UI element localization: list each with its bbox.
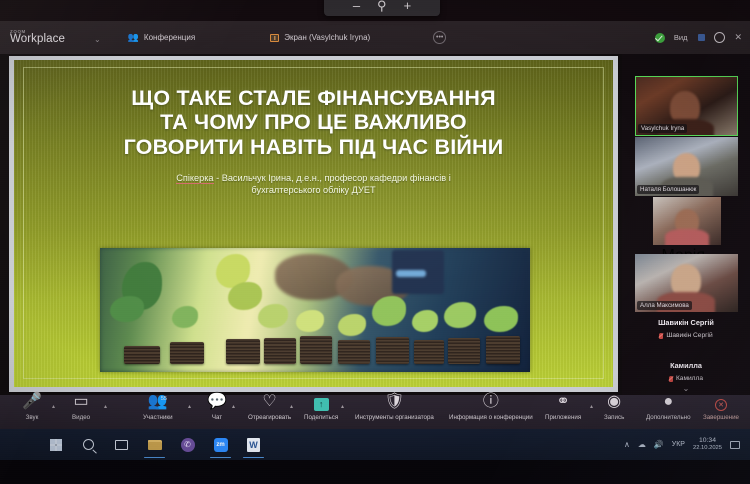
slide-title-line-2: ТА ЧОМУ ПРО ЦЕ ВАЖЛИВО (32, 110, 595, 134)
participants-options-caret-icon[interactable]: ▴ (188, 403, 191, 410)
info-icon: ⓘ (483, 397, 499, 411)
camera-icon: ▭ (73, 397, 88, 411)
slide-image-plants-on-coins (100, 248, 530, 372)
network-icon[interactable]: ☁ (638, 440, 646, 449)
share-options-caret-icon[interactable]: ▴ (341, 403, 344, 410)
floating-zoom-controls[interactable]: – ⚲ + (324, 0, 440, 16)
people-icon: 👥 (128, 32, 139, 43)
video-button[interactable]: ▭ Видео (72, 397, 90, 421)
file-explorer-icon[interactable] (147, 437, 162, 452)
participant-list-sub: Камилла (622, 375, 750, 382)
sleeve-cuff (396, 270, 426, 277)
audio-button[interactable]: 🎤 Звук (22, 397, 42, 421)
participant-name-label: Наталя Болошанюк (637, 185, 699, 194)
video-tile[interactable]: Наталя Болошанюк (635, 137, 738, 196)
video-tile[interactable]: Алла Максимова (635, 254, 738, 312)
windows-taskbar: ✆ zm W ∧ ☁ 🔊 УКР 10:34 22.10.2025 (0, 429, 750, 460)
tray-chevron-icon[interactable]: ∧ (624, 440, 630, 449)
fullscreen-icon[interactable] (714, 32, 725, 43)
scroll-down-chevron-icon[interactable]: ⌄ (622, 384, 750, 393)
view-layout-icon[interactable] (698, 34, 705, 41)
audio-options-caret-icon[interactable]: ▴ (52, 403, 55, 410)
slide-title-line-1: ЩО ТАКЕ СТАЛЕ ФІНАНСУВАННЯ (32, 86, 595, 110)
participants-count-badge: 55 (161, 396, 167, 402)
mic-muted-icon (659, 333, 663, 339)
participants-panel[interactable]: Vasylchuk Iryna Наталя Болошанюк Марія П… (622, 54, 750, 395)
participant-name-label: Алла Максимова (637, 301, 692, 310)
participant-name-label: Vasylchuk Iryna (638, 124, 687, 133)
zoom-out-icon[interactable]: – (353, 0, 360, 12)
record-button[interactable]: ◉ Запись (604, 397, 624, 421)
clock-time: 10:34 (693, 437, 722, 445)
zoom-in-icon[interactable]: + (404, 0, 412, 12)
host-tools-icon: 🛡 (384, 397, 404, 411)
reactions-icon: ♡ (262, 397, 276, 411)
more-icon: ● (663, 397, 673, 411)
taskbar-icon-group: ✆ zm W (48, 429, 261, 460)
slide-title: ЩО ТАКЕ СТАЛЕ ФІНАНСУВАННЯ ТА ЧОМУ ПРО Ц… (32, 86, 595, 159)
meeting-stage: ЩО ТАКЕ СТАЛЕ ФІНАНСУВАННЯ ТА ЧОМУ ПРО Ц… (0, 54, 750, 395)
participant-list-title: Камилла (622, 361, 750, 370)
chat-options-caret-icon[interactable]: ▴ (232, 403, 235, 410)
share-screen-icon: ↑ (314, 397, 329, 411)
host-tools-button[interactable]: 🛡 Инструменты организатора (355, 397, 434, 421)
reactions-options-caret-icon[interactable]: ▴ (290, 403, 293, 410)
participant-list-item[interactable]: Шавикін Сергій Шавикін Сергій (622, 318, 750, 339)
taskbar-clock[interactable]: 10:34 22.10.2025 (693, 437, 722, 451)
microphone-icon: 🎤 (22, 397, 42, 411)
shared-screen-area[interactable]: ЩО ТАКЕ СТАЛЕ ФІНАНСУВАННЯ ТА ЧОМУ ПРО Ц… (9, 56, 618, 392)
connection-ok-icon (655, 33, 665, 43)
speaker-details: - Васильчук Ірина, д.е.н., професор кафе… (214, 173, 451, 183)
participant-torso (665, 229, 709, 245)
participant-list-item[interactable]: Камилла Камилла (622, 361, 750, 382)
coin-stack (448, 338, 480, 364)
apps-icon: ⚭ (556, 397, 569, 411)
word-icon[interactable]: W (246, 437, 261, 452)
slide-title-line-3: ГОВОРИТИ НАВІТЬ ПІД ЧАС ВІЙНИ (32, 135, 595, 159)
participant-list-title: Шавикін Сергій (622, 318, 750, 327)
chat-icon: 💬 (207, 397, 227, 411)
video-tile-active-speaker[interactable]: Vasylchuk Iryna (635, 76, 738, 136)
speaker-affiliation: бухгалтерського обліку ДУЕТ (62, 184, 565, 196)
apps-options-caret-icon[interactable]: ▴ (590, 403, 593, 410)
more-button[interactable]: ● Дополнительно (646, 397, 691, 421)
close-icon[interactable]: ✕ (734, 32, 742, 43)
participant-list-sub: Шавикін Сергій (622, 332, 750, 339)
search-icon[interactable] (81, 437, 96, 452)
speaker-word: Спікерка (176, 173, 213, 184)
chat-button[interactable]: 💬 Чат (207, 397, 227, 421)
coin-stack (338, 340, 370, 364)
clock-date: 22.10.2025 (693, 445, 722, 452)
slide-subtitle: Спікерка - Васильчук Ірина, д.е.н., проф… (62, 172, 565, 197)
conference-label: Конференция (144, 33, 195, 42)
coin-stack (124, 346, 160, 364)
participants-button[interactable]: 👥 55 Участники (143, 397, 173, 421)
coin-stack (226, 339, 260, 364)
more-tabs-button[interactable]: ••• (433, 31, 446, 44)
task-view-icon[interactable] (114, 437, 129, 452)
monitor-photo: – ⚲ + ZOOM Workplace ⌄ 👥 Конференция Экр… (0, 0, 750, 484)
share-screen-button[interactable]: ↑ Поделиться (304, 397, 338, 421)
coin-stack (264, 338, 296, 364)
system-tray: ∧ ☁ 🔊 УКР 10:34 22.10.2025 (624, 429, 740, 460)
reactions-button[interactable]: ♡ Отреагировать (248, 397, 291, 421)
viber-icon[interactable]: ✆ (180, 437, 195, 452)
header-dropdown-chevron-icon[interactable]: ⌄ (94, 35, 101, 44)
brand-name-label: Workplace (10, 34, 84, 46)
apps-button[interactable]: ⚭ Приложения (545, 397, 581, 421)
record-icon: ◉ (607, 397, 621, 411)
video-tile[interactable] (653, 197, 721, 245)
conference-tab[interactable]: 👥 Конференция (128, 32, 195, 43)
coin-stack (376, 337, 409, 364)
coin-stack (486, 336, 520, 364)
language-indicator[interactable]: УКР (672, 441, 685, 448)
presentation-slide: ЩО ТАКЕ СТАЛЕ ФІНАНСУВАННЯ ТА ЧОМУ ПРО Ц… (14, 60, 613, 387)
coin-stack (170, 342, 204, 364)
search-icon[interactable]: ⚲ (377, 0, 387, 12)
volume-icon[interactable]: 🔊 (654, 440, 664, 449)
coin-stack (300, 336, 332, 364)
view-label[interactable]: Вид (674, 33, 688, 42)
notification-icon[interactable] (730, 441, 740, 449)
coin-stack (414, 340, 444, 364)
monitor-bezel (0, 460, 750, 484)
participants-icon: 👥 55 (148, 397, 168, 411)
screen-share-label: Экран (Vasylchuk Iryna) (284, 33, 370, 42)
end-meeting-button[interactable]: ✕ Завершение (703, 397, 739, 421)
screen-share-icon (270, 34, 279, 42)
end-call-icon: ✕ (715, 397, 727, 411)
video-options-caret-icon[interactable]: ▴ (104, 403, 107, 410)
screen-share-tab[interactable]: Экран (Vasylchuk Iryna) (270, 33, 370, 42)
zoom-workplace-logo: ZOOM Workplace (10, 30, 84, 46)
zoom-app-header: ZOOM Workplace ⌄ 👥 Конференция Экран (Va… (0, 21, 750, 54)
header-right-controls: Вид ✕ (655, 21, 742, 54)
meeting-info-button[interactable]: ⓘ Информация о конференции (449, 397, 533, 421)
zoom-icon[interactable]: zm (213, 437, 228, 452)
mic-muted-icon (669, 376, 673, 382)
meeting-toolbar: 🎤 Звук ▴ ▭ Видео ▴ 👥 55 Участники ▴ 💬 Ча… (0, 395, 750, 429)
windows-start-icon[interactable] (48, 437, 63, 452)
